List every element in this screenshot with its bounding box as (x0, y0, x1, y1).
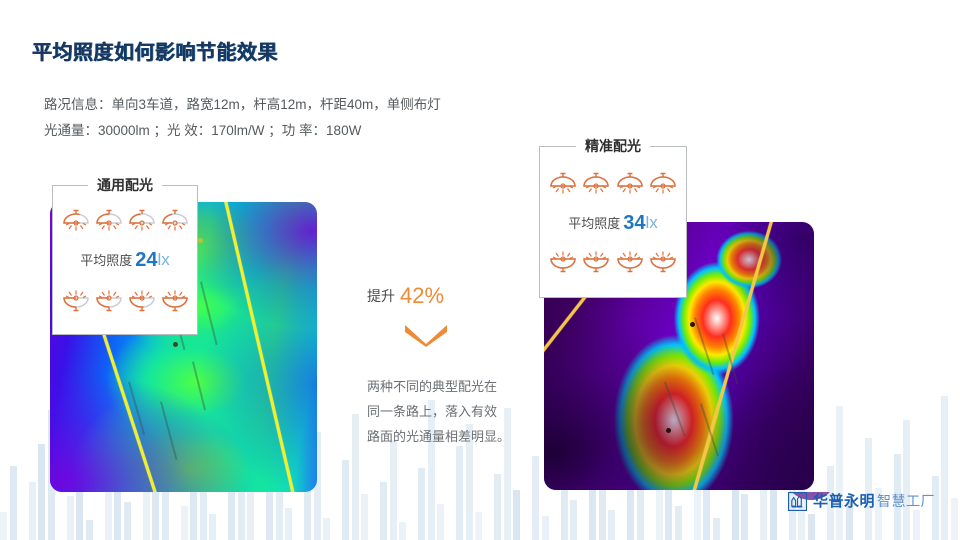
background-bar (124, 502, 131, 540)
background-bar (865, 438, 872, 540)
background-bar (741, 494, 748, 540)
pendant-lamp-icon (648, 249, 678, 274)
card-general-distribution: 通用配光 平均照度24lx (52, 185, 198, 335)
card-right-lamp-row-bottom (540, 249, 686, 274)
card-right-lux-unit: lx (645, 213, 657, 232)
card-precise-distribution: 精准配光 平均照度34lx (539, 146, 687, 298)
background-bar (808, 514, 815, 540)
pendant-lamp-icon (160, 288, 190, 313)
pendant-lamp-icon (548, 171, 578, 196)
improvement-line: 提升42% (367, 283, 527, 309)
background-bar (513, 490, 520, 540)
huapu-logo-icon (788, 492, 807, 511)
background-bar (390, 440, 397, 540)
subtitle-line-2: 光通量：30000lm ；光 效：170lm/W ；功 率：180W (44, 118, 441, 144)
background-bar (209, 514, 216, 540)
card-left-lux-value: 24 (135, 249, 157, 271)
pendant-lamp-icon (581, 249, 611, 274)
background-bar (570, 500, 577, 540)
background-bar (29, 482, 36, 540)
background-bar (494, 474, 501, 540)
logo-sub: 智慧工厂 (877, 493, 935, 509)
card-left-lamp-row-bottom (53, 288, 197, 313)
card-left-title: 通用配光 (88, 175, 162, 195)
background-bar (380, 482, 387, 540)
background-bar (342, 460, 349, 540)
pendant-lamp-icon (648, 171, 678, 196)
pendant-lamp-icon (61, 288, 91, 313)
background-bar (913, 510, 920, 540)
background-bar (0, 512, 7, 540)
pendant-lamp-icon (615, 171, 645, 196)
background-bar (323, 518, 330, 540)
card-right-lux: 平均照度34lx (540, 212, 686, 235)
card-left-lux: 平均照度24lx (53, 249, 197, 272)
background-bar (475, 512, 482, 540)
background-bar (903, 420, 910, 540)
background-bar (713, 518, 720, 540)
pendant-lamp-icon (127, 288, 157, 313)
improvement-value: 42% (400, 283, 444, 308)
background-bar (637, 484, 644, 540)
background-bar (418, 468, 425, 540)
card-right-lamp-row-top (540, 171, 686, 196)
background-bar (608, 510, 615, 540)
pendant-lamp-icon (160, 208, 190, 233)
background-bar (532, 456, 539, 540)
description-line-2: 同一条路上，落入有效 (367, 399, 527, 424)
card-right-lux-label: 平均照度 (568, 216, 620, 231)
card-right-lux-value: 34 (623, 212, 645, 234)
background-bar (10, 466, 17, 540)
background-bar (162, 486, 169, 540)
brand-logo: 华普永明智慧工厂 (788, 492, 935, 511)
logo-brand: 华普永明 (813, 493, 875, 510)
card-left-lux-unit: lx (157, 250, 169, 269)
page-title: 平均照度如何影响节能效果 (32, 36, 278, 65)
background-bar (437, 504, 444, 540)
chevron-down-icon (403, 323, 449, 347)
pendant-lamp-icon (127, 208, 157, 233)
pendant-lamp-icon (61, 208, 91, 233)
background-bar (352, 414, 359, 540)
background-bar (456, 446, 463, 540)
slide-canvas: 平均照度如何影响节能效果 路况信息：单向3车道，路宽12m，杆高12m，杆距40… (0, 0, 960, 540)
card-right-title: 精准配光 (576, 136, 650, 156)
background-bar (542, 516, 549, 540)
pendant-lamp-icon (548, 249, 578, 274)
logo-text: 华普永明智慧工厂 (813, 494, 935, 510)
background-bar (951, 498, 958, 540)
background-bar (361, 494, 368, 540)
description-line-3: 路面的光通量相差明显。 (367, 424, 527, 449)
background-bar (247, 492, 254, 540)
card-left-lux-label: 平均照度 (80, 253, 132, 268)
subtitle-block: 路况信息：单向3车道，路宽12m，杆高12m，杆距40m，单侧布灯 光通量：30… (44, 92, 441, 144)
background-bar (181, 506, 188, 540)
description-line-1: 两种不同的典型配光在 (367, 374, 527, 399)
card-left-lamp-row-top (53, 208, 197, 233)
comparison-callout: 提升42% 两种不同的典型配光在 同一条路上，落入有效 路面的光通量相差明显。 (367, 283, 527, 449)
background-bar (399, 522, 406, 540)
subtitle-line-1: 路况信息：单向3车道，路宽12m，杆高12m，杆距40m，单侧布灯 (44, 92, 441, 118)
pendant-lamp-icon (94, 208, 124, 233)
background-bar (285, 508, 292, 540)
background-bar (675, 506, 682, 540)
pendant-lamp-icon (94, 288, 124, 313)
background-bar (38, 444, 45, 540)
background-bar (836, 406, 843, 540)
background-bar (86, 520, 93, 540)
improvement-label: 提升 (367, 288, 395, 304)
description-text: 两种不同的典型配光在 同一条路上，落入有效 路面的光通量相差明显。 (367, 374, 527, 449)
pendant-lamp-icon (615, 249, 645, 274)
pendant-lamp-icon (581, 171, 611, 196)
background-bar (67, 496, 74, 540)
background-bar (941, 396, 948, 540)
